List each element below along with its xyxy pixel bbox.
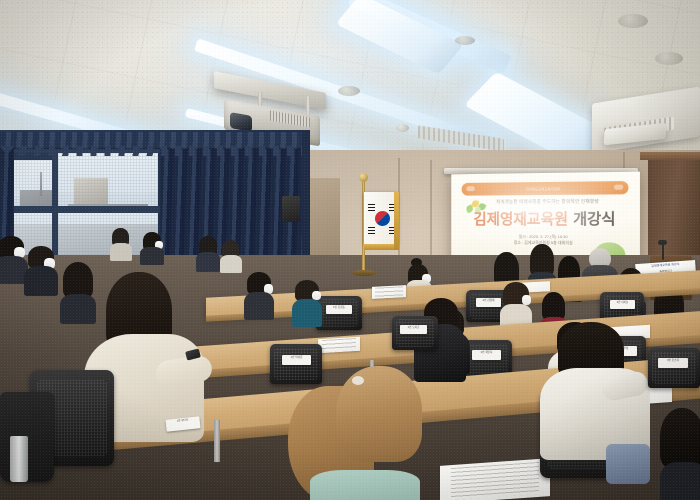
- nametag-text: 1반 홍길동: [326, 305, 352, 309]
- torso: [24, 266, 58, 296]
- taeguk-circle: [375, 211, 390, 226]
- chair-mesh: [652, 352, 696, 384]
- torso: [140, 247, 164, 265]
- window-mullion: [52, 148, 58, 260]
- paper-text-lines: [451, 462, 539, 500]
- slide-tagline: 지속가능한 미래사회를 주도하는 창의적인 인재양성: [473, 199, 624, 206]
- curtain-scallop-trim: [0, 146, 302, 156]
- flag-finial: [359, 173, 368, 182]
- audience-member: [292, 280, 322, 326]
- audience-member: [244, 272, 274, 318]
- flag-fringe: [364, 244, 398, 250]
- chair-nametag: 1반 홍길동: [326, 305, 352, 314]
- trigram-gon: [368, 227, 375, 228]
- chair-mesh: [464, 344, 508, 376]
- student-foreground-center: [288, 366, 438, 500]
- torso: [110, 243, 132, 261]
- slide-title-main: 김제영재교육원: [473, 211, 568, 228]
- flag-stand-base: [352, 270, 376, 276]
- wall-speaker-box: [282, 196, 300, 222]
- chair-nametag: 3반 이하늘: [610, 300, 635, 309]
- trigram-geon: [368, 204, 375, 205]
- audience-member: [196, 236, 220, 268]
- hair: [542, 292, 565, 320]
- hair-crown: [336, 366, 422, 462]
- window-mullion: [0, 206, 162, 213]
- audience-member: [660, 408, 700, 500]
- audience-member: [24, 246, 58, 294]
- trigram-geon: [368, 210, 375, 211]
- handout-paper: [440, 458, 550, 500]
- nametag-text: 1반 박서준: [282, 355, 311, 359]
- torso: [196, 252, 220, 272]
- chair-nametag: 1반 오지훈: [400, 325, 427, 334]
- chair-nametag: 2반 김영재: [476, 298, 501, 307]
- flag-fringe-side: [394, 192, 399, 250]
- paper-text-lines: [375, 286, 402, 298]
- chair: [648, 348, 700, 388]
- slide-top-banner: 전라북도김제교육지원청: [462, 181, 628, 195]
- nametag-text: 2반 김영재: [476, 298, 501, 302]
- torso: [292, 299, 322, 327]
- audience-member: [220, 240, 242, 270]
- handout-paper: [372, 285, 406, 299]
- nametag-text: 3반 이하늘: [610, 300, 635, 304]
- trigram-gon: [368, 233, 375, 234]
- ceiling-speaker: [655, 52, 683, 65]
- hair: [660, 408, 700, 468]
- wood-trim: [640, 152, 700, 160]
- torso: [310, 470, 420, 500]
- chair-nametag: 1반 박서준: [282, 355, 311, 365]
- trigram-gon: [368, 230, 375, 231]
- slide-title: 김제영재교육원개강식: [458, 208, 632, 230]
- chair-nametag: 3반 한소희: [658, 358, 688, 368]
- chair-nametag: 2반 최민지: [472, 350, 501, 360]
- audience-member: [140, 232, 164, 262]
- handout-paper: [318, 337, 360, 354]
- nametag-text: 2반 최민지: [472, 350, 501, 354]
- sprinkler-head: [396, 124, 409, 132]
- korean-flag-assembly: [348, 178, 400, 288]
- student-foreground-right: [540, 322, 650, 482]
- torso: [660, 462, 700, 500]
- ceiling-speaker: [338, 86, 360, 96]
- table-leg: [214, 420, 220, 462]
- nametag-text: 1반 오지훈: [400, 325, 427, 329]
- classroom-photo: 전라북도김제교육지원청 지속가능한 미래사회를 주도하는 창의적인 인재양성 김…: [0, 0, 700, 500]
- torso: [220, 255, 242, 273]
- torso: [244, 292, 274, 320]
- audience-member: [110, 228, 132, 258]
- ceiling-speaker: [618, 14, 648, 28]
- paper-text-lines: [322, 338, 356, 352]
- taegukgi-flag: [364, 192, 398, 244]
- microphone-head: [658, 240, 667, 245]
- ceiling-speaker: [455, 36, 475, 45]
- slide-title-accent: 개강식: [573, 211, 615, 228]
- slide-banner-text: 전라북도김제교육지원청: [462, 181, 628, 195]
- wall-niche: [306, 178, 340, 256]
- jeans: [606, 444, 650, 484]
- water-bottle: [10, 436, 28, 482]
- nametag-text: 3반 한소희: [658, 358, 688, 362]
- microphone: [662, 244, 664, 260]
- hair-tie: [352, 376, 364, 385]
- trigram-geon: [368, 207, 375, 208]
